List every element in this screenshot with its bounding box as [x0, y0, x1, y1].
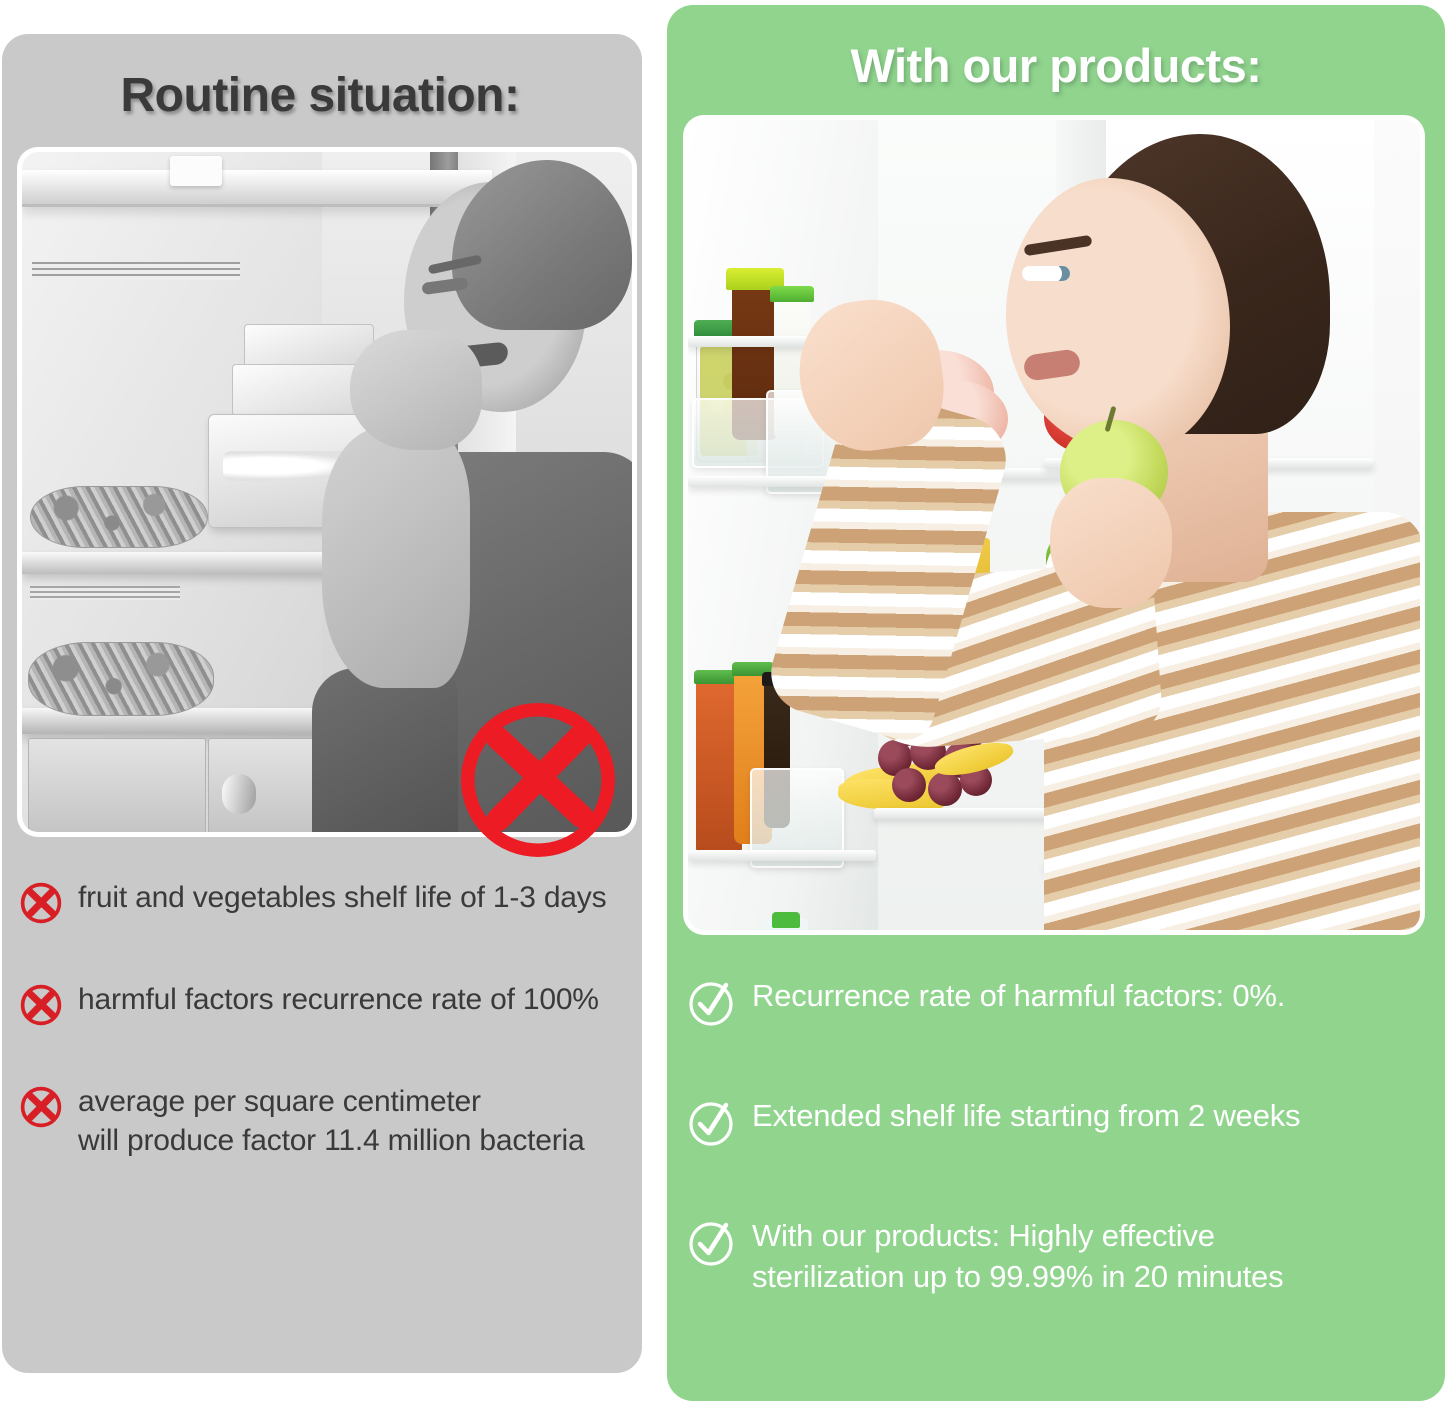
- spoiled-vegetables-upper: [30, 486, 208, 548]
- woman-sleeve: [312, 668, 458, 832]
- list-item-label: With our products: Highly effective ster…: [752, 1216, 1283, 1298]
- right-panel-heading: With our products:: [667, 38, 1445, 93]
- drawer-handle-1: [222, 774, 256, 814]
- water-bottle-cap-green: [772, 912, 800, 928]
- list-item: Recurrence rate of harmful factors: 0%.: [686, 976, 1432, 1028]
- circled-check-icon: [686, 978, 736, 1028]
- list-item-label: fruit and vegetables shelf life of 1-3 d…: [78, 878, 606, 917]
- fridge-vent-upper: [32, 262, 240, 280]
- list-item-label: average per square centimeter will produ…: [78, 1082, 585, 1160]
- list-item: With our products: Highly effective ster…: [686, 1216, 1432, 1298]
- with-our-products-photo: [688, 120, 1420, 930]
- woman-hand-holding-apple: [1050, 478, 1172, 608]
- woman-eye: [1022, 266, 1070, 281]
- door-shelf-rail-lower: [688, 850, 876, 861]
- grape-8: [928, 772, 962, 806]
- circled-check-icon: [686, 1098, 736, 1148]
- list-item-label: Recurrence rate of harmful factors: 0%.: [752, 976, 1285, 1017]
- circled-check-icon: [686, 1218, 736, 1268]
- left-panel-heading: Routine situation:: [0, 68, 640, 123]
- woman-arm: [322, 428, 470, 688]
- list-item: average per square centimeter will produ…: [18, 1082, 648, 1160]
- color-fridge-scene: [688, 120, 1420, 930]
- woman-hand-pinching-nose: [350, 330, 482, 450]
- routine-situation-bullet-list: fruit and vegetables shelf life of 1-3 d…: [18, 878, 648, 1214]
- bottle-cap-green: [770, 286, 814, 302]
- circled-cross-icon: [18, 1084, 64, 1130]
- circled-cross-icon: [18, 880, 64, 926]
- grape-7: [892, 768, 926, 802]
- circled-cross-badge-icon: [448, 690, 628, 870]
- list-item: harmful factors recurrence rate of 100%: [18, 980, 648, 1028]
- list-item-label: Extended shelf life starting from 2 week…: [752, 1096, 1300, 1137]
- list-item: Extended shelf life starting from 2 week…: [686, 1096, 1432, 1148]
- fridge-light-icon: [170, 156, 222, 186]
- food-container-upper: [244, 324, 374, 368]
- with-our-products-bullet-list: Recurrence rate of harmful factors: 0%. …: [686, 976, 1432, 1366]
- fridge-vent-lower: [30, 586, 180, 600]
- circled-cross-icon: [18, 982, 64, 1028]
- list-item: fruit and vegetables shelf life of 1-3 d…: [18, 878, 648, 926]
- fridge-bottom-drawer-1: [28, 738, 206, 832]
- spoiled-vegetables-lower: [28, 642, 214, 716]
- fridge-top-shelf: [22, 170, 492, 207]
- list-item-label: harmful factors recurrence rate of 100%: [78, 980, 599, 1019]
